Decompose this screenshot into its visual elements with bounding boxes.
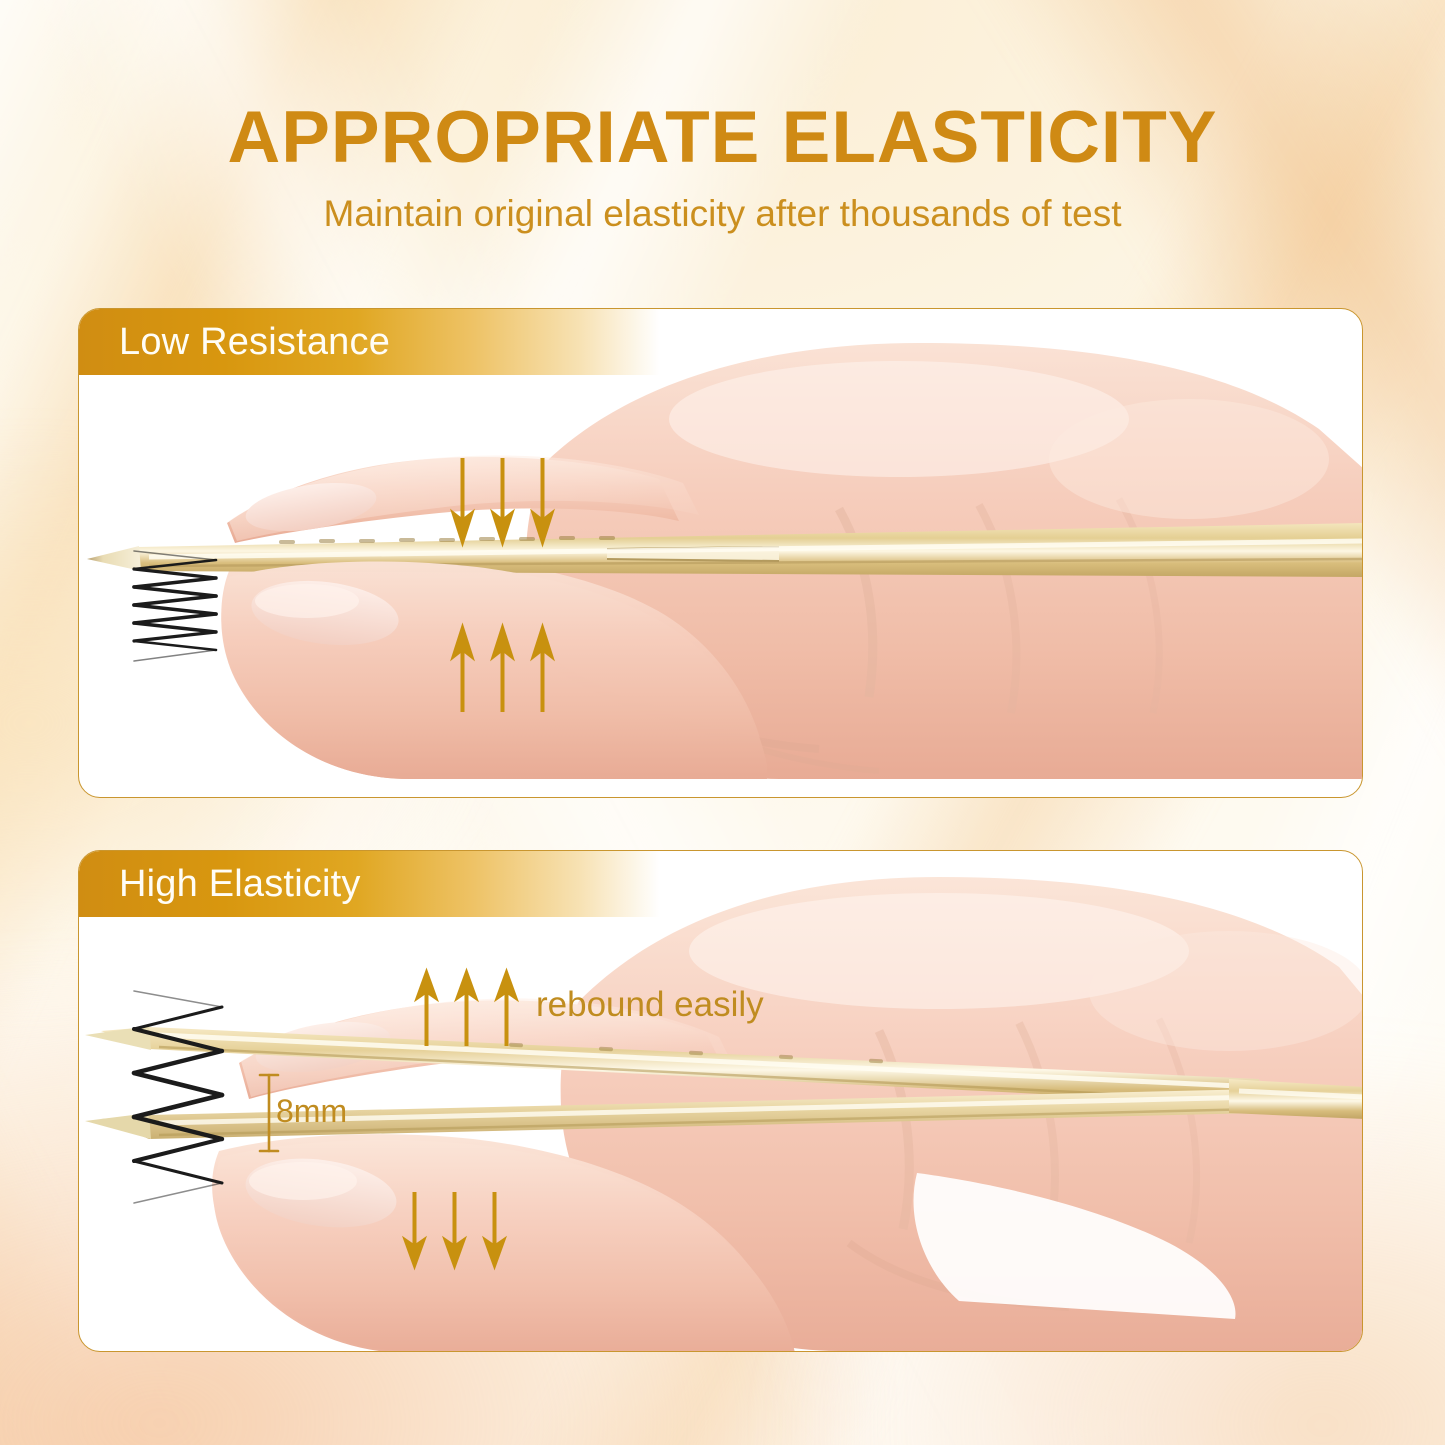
page-subtitle: Maintain original elasticity after thous… [0,193,1445,235]
card-low-resistance: Low Resistance [78,308,1363,798]
up-arrows-high-elasticity [412,966,522,1046]
page-title: APPROPRIATE ELASTICITY [0,96,1445,179]
compressed-spring-icon [120,545,230,670]
infographic-page: APPROPRIATE ELASTICITY Maintain original… [0,0,1445,1445]
up-arrows-low-resistance [448,620,558,712]
photo-hand-closed-tweezers [79,309,1363,798]
gap-measurement-label: 8mm [276,1093,347,1130]
rebound-easily-label: rebound easily [536,985,764,1025]
extended-spring-icon [112,985,242,1210]
card-low-resistance-body: Low Resistance [79,309,1362,797]
down-arrows-low-resistance [448,458,558,550]
down-arrows-high-elasticity [400,1192,510,1272]
